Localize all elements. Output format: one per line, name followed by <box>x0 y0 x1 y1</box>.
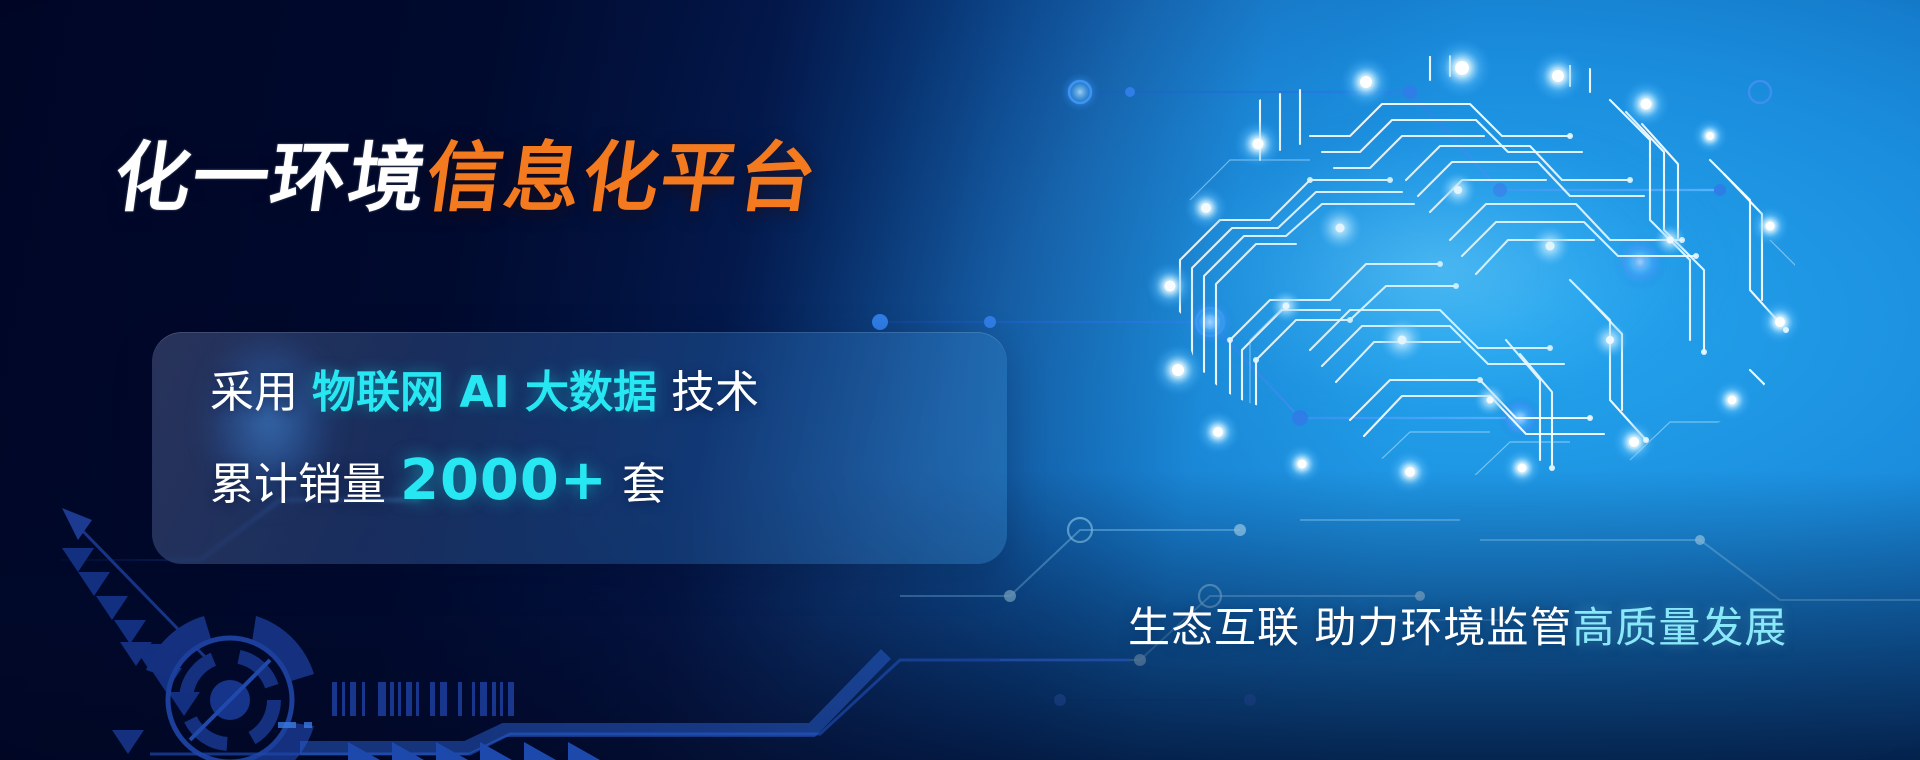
background-vignette <box>0 0 1920 760</box>
promo-banner: 化一环境信息化平台 采用 物联网 AI 大数据 技术 累计销量 2000+ 套 … <box>0 0 1920 760</box>
